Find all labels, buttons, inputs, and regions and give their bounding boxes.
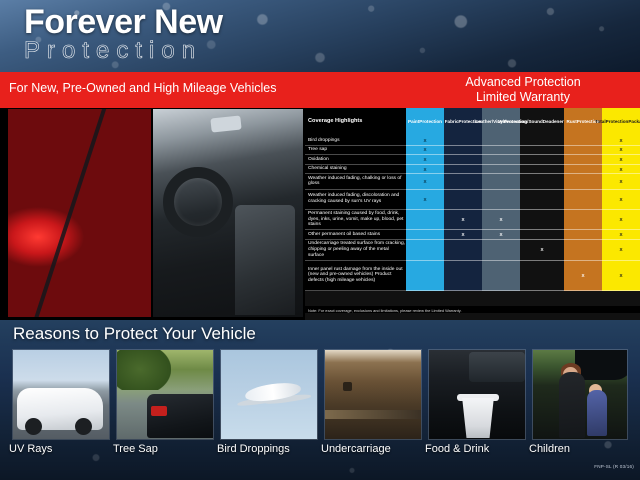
column-header-total: TotalProtectionPackage [602,108,640,136]
coverage-cell-undercoating [520,174,564,189]
coverage-highlights-header: Coverage Highlights [305,108,406,136]
coverage-cell-total: X [602,261,640,291]
coverage-cell-rust [564,155,602,165]
coverage-row-label: Chemical staining [305,165,406,175]
coverage-cell-rust [564,136,602,146]
coverage-cell-total: X [602,136,640,146]
reason-caption-1: Tree Sap [113,443,158,455]
coverage-cell-paint: X [406,136,444,146]
coverage-cell-rust [564,174,602,189]
coverage-cell-leather [482,240,520,261]
coverage-row-label: Weather induced fading, chalking or loss… [305,174,406,189]
coverage-cell-total: X [602,155,640,165]
coverage-cell-rust: X [564,261,602,291]
coverage-row-label: Inner panel rust damage from the inside … [305,261,406,291]
steering-wheel-shape [163,167,233,237]
logo-primary-text: Forever New [24,4,223,40]
reason-thumb-tree-sap[interactable] [116,349,214,440]
coverage-cell-leather [482,136,520,146]
woman-body-shape [559,372,585,438]
coverage-cell-fabric [444,155,482,165]
reason-thumb-undercarriage[interactable] [324,349,422,440]
coverage-cell-leather: X [482,210,520,231]
coverage-cell-paint: X [406,146,444,156]
undercarriage-bolt-shape [343,382,352,391]
seagull-image [221,350,317,439]
warranty-title: Advanced Protection Limited Warranty [408,75,638,105]
coverage-row-label: Tree sap [305,146,406,156]
coverage-cell-total: X [602,146,640,156]
coverage-cell-undercoating [520,165,564,175]
rearview-mirror-shape [210,115,241,132]
form-code: FNP-SL (R 03/16) [594,464,634,469]
coverage-cell-leather [482,146,520,156]
coverage-cell-leather [482,261,520,291]
coverage-cell-fabric: X [444,230,482,240]
coverage-cell-undercoating [520,261,564,291]
coverage-row-label: Bird droppings [305,136,406,146]
coverage-row-label: Oxidation [305,155,406,165]
table-footnote: Note: For exact coverage, exclusions and… [305,306,640,313]
coverage-cell-rust [564,210,602,231]
coverage-table-grid: Coverage HighlightsPaintProtectionFabric… [305,108,640,291]
reason-caption-4: Food & Drink [425,443,489,455]
cup-shape [460,398,496,438]
reason-caption-5: Children [529,443,570,455]
coverage-table: Coverage HighlightsPaintProtectionFabric… [305,108,640,320]
reason-thumb-bird-droppings[interactable] [220,349,318,440]
coverage-cell-rust [564,240,602,261]
coverage-cell-leather [482,190,520,210]
reason-caption-0: UV Rays [9,443,52,455]
logo-secondary-text: Protection [24,38,223,64]
coverage-cell-total: X [602,240,640,261]
car-seat-shape [235,205,295,315]
coverage-cell-total: X [602,174,640,189]
coverage-cell-rust [564,190,602,210]
coverage-cell-undercoating [520,155,564,165]
coverage-cell-leather [482,165,520,175]
warranty-title-line1: Advanced Protection [408,75,638,90]
seagull-shape [244,380,302,404]
dashboard-shape [469,352,525,382]
coverage-cell-paint: X [406,165,444,175]
coverage-cell-rust [564,146,602,156]
coverage-cell-paint [406,210,444,231]
coverage-cell-undercoating [520,190,564,210]
coverage-cell-leather: X [482,230,520,240]
brand-logo: Forever New Protection [24,4,223,64]
open-hatch-shape [575,349,628,380]
reasons-section: Reasons to Protect Your Vehicle [0,320,640,480]
reason-thumb-food-drink[interactable] [428,349,526,440]
coverage-cell-paint: X [406,155,444,165]
reason-caption-3: Undercarriage [321,443,391,455]
undercarriage-beam-shape [325,410,421,419]
coverage-cell-fabric [444,136,482,146]
coverage-cell-undercoating: X [520,240,564,261]
column-header-paint: PaintProtection [406,108,444,136]
coverage-cell-fabric [444,146,482,156]
coverage-cell-total: X [602,230,640,240]
reasons-title: Reasons to Protect Your Vehicle [13,324,256,344]
coverage-cell-undercoating [520,146,564,156]
red-headline-bar: For New, Pre-Owned and High Mileage Vehi… [0,72,640,108]
coverage-cell-fabric [444,174,482,189]
coverage-cell-fabric [444,165,482,175]
reason-thumb-uv-rays[interactable] [12,349,110,440]
coverage-cell-undercoating [520,230,564,240]
suv-wheel-front [25,418,42,435]
brochure-page: Forever New Protection For New, Pre-Owne… [0,0,640,480]
coverage-cell-total: X [602,210,640,231]
coverage-cell-rust [564,165,602,175]
reasons-thumbnail-strip [12,349,628,440]
coverage-row-label: Undercarriage treated surface from crack… [305,240,406,261]
coverage-cell-paint [406,261,444,291]
coverage-cell-fabric [444,190,482,210]
coverage-cell-paint [406,240,444,261]
coverage-row-label: Weather induced fading, discoloration an… [305,190,406,210]
white-suv-image [13,350,109,439]
suv-taillight-shape [151,406,167,416]
child-body-shape [587,390,607,436]
main-content-section: Coverage HighlightsPaintProtectionFabric… [0,108,640,320]
coverage-cell-paint: X [406,174,444,189]
coverage-cell-fabric [444,240,482,261]
car-interior-photo [153,109,303,317]
coverage-cell-total: X [602,190,640,210]
coverage-cell-leather [482,174,520,189]
column-header-undercoating: Undercoating/SoundDeadenerProtection [520,108,564,136]
coverage-cell-paint: X [406,190,444,210]
header-banner: Forever New Protection [0,0,640,72]
dark-suv-shape [147,394,214,438]
vehicles-tagline: For New, Pre-Owned and High Mileage Vehi… [9,81,277,95]
reason-thumb-children[interactable] [532,349,628,440]
reason-captions: UV RaysTree SapBird DroppingsUndercarria… [0,443,640,461]
coverage-cell-paint [406,230,444,240]
coverage-cell-rust [564,230,602,240]
coverage-cell-undercoating [520,210,564,231]
undercarriage-image [325,350,421,439]
car-exterior-photo [8,109,151,317]
coverage-cell-undercoating [520,136,564,146]
drink-cup-image [429,350,525,439]
coverage-cell-fabric [444,261,482,291]
coverage-cell-total: X [602,165,640,175]
suv-wheel-rear [75,418,92,435]
tree-canopy-shape [116,349,171,390]
coverage-row-label: Permanent staining caused by food, drink… [305,210,406,231]
coverage-row-label: Other permanent oil based stains [305,230,406,240]
suv-under-tree-image [117,350,213,439]
coverage-cell-leather [482,155,520,165]
family-in-trunk-image [533,350,627,439]
coverage-cell-fabric: X [444,210,482,231]
reason-caption-2: Bird Droppings [217,443,290,455]
warranty-title-line2: Limited Warranty [408,90,638,105]
